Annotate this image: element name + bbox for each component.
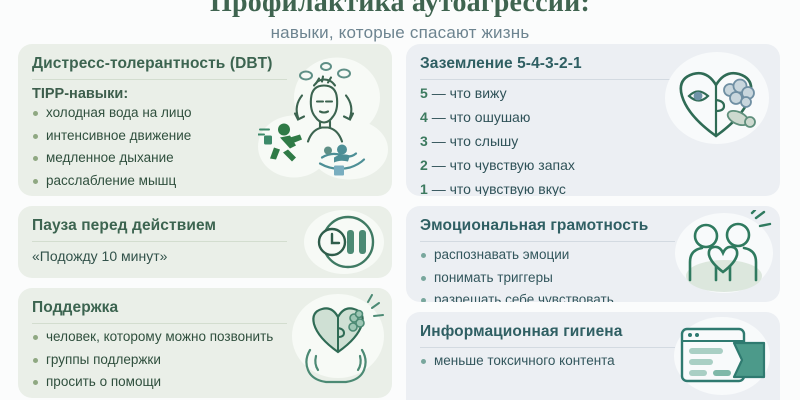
right-column: Заземление 5-4-3-2-1 5 — что вижу 4 — чт… bbox=[406, 44, 780, 400]
card-heading: Дистресс-толерантность (DBT) bbox=[32, 55, 378, 80]
step-text: — что чувствую вкус bbox=[432, 181, 566, 196]
card-emotional-literacy[interactable]: Эмоциональная грамотность распознавать э… bbox=[406, 206, 780, 302]
step-number: 1 bbox=[420, 181, 428, 196]
card-pause-before-action[interactable]: Пауза перед действием «Подожду 10 минут» bbox=[18, 206, 392, 278]
list-item: меньше токсичного контента bbox=[420, 354, 766, 368]
card-subheading: TIPP-навыки: bbox=[32, 86, 378, 102]
list-item: понимать триггеры bbox=[420, 271, 766, 285]
list-item: 5 — что вижу bbox=[420, 86, 766, 100]
card-grounding-54321[interactable]: Заземление 5-4-3-2-1 5 — что вижу 4 — чт… bbox=[406, 44, 780, 196]
cards-layout: Дистресс-толерантность (DBT) TIPP-навыки… bbox=[0, 44, 800, 400]
card-quote: «Подожду 10 минут» bbox=[32, 248, 378, 264]
bullet-list: распознавать эмоции понимать триггеры ра… bbox=[420, 248, 766, 302]
page-subtitle: навыки, которые спасают жизнь bbox=[0, 23, 800, 43]
card-information-hygiene[interactable]: Информационная гигиена меньше токсичного… bbox=[406, 312, 780, 400]
bullet-list: холодная вода на лицо интенсивное движен… bbox=[32, 106, 378, 187]
bullet-list: меньше токсичного контента bbox=[420, 354, 766, 368]
list-item: интенсивное движение bbox=[32, 129, 378, 143]
list-item: 1 — что чувствую вкус bbox=[420, 182, 766, 196]
list-item: расслабление мышц bbox=[32, 174, 378, 188]
card-support[interactable]: Поддержка человек, которому можно позвон… bbox=[18, 288, 392, 398]
card-heading: Пауза перед действием bbox=[32, 217, 378, 242]
step-number: 4 bbox=[420, 109, 428, 125]
left-column: Дистресс-толерантность (DBT) TIPP-навыки… bbox=[18, 44, 392, 400]
list-item: 4 — что ошушаю bbox=[420, 110, 766, 124]
card-heading: Заземление 5-4-3-2-1 bbox=[420, 55, 766, 80]
card-distress-tolerance[interactable]: Дистресс-толерантность (DBT) TIPP-навыки… bbox=[18, 44, 392, 196]
step-number: 5 bbox=[420, 85, 428, 101]
list-item: человек, которому можно позвонить bbox=[32, 330, 378, 344]
list-item: медленное дыхание bbox=[32, 151, 378, 165]
list-item: просить о помощи bbox=[32, 375, 378, 389]
card-heading: Поддержка bbox=[32, 299, 378, 324]
bullet-list: человек, которому можно позвонить группы… bbox=[32, 330, 378, 389]
list-item: разрешать себе чувствовать bbox=[420, 293, 766, 302]
list-item: 2 — что чувствую запах bbox=[420, 158, 766, 172]
step-text: — что вижу bbox=[432, 85, 507, 101]
steps-list: 5 — что вижу 4 — что ошушаю 3 — что слыш… bbox=[420, 86, 766, 196]
page-title: Профилактика аутоагрессии: bbox=[0, 0, 800, 17]
list-item: распознавать эмоции bbox=[420, 248, 766, 262]
page-header: Профилактика аутоагрессии: навыки, котор… bbox=[0, 0, 800, 43]
card-heading: Информационная гигиена bbox=[420, 323, 766, 348]
step-text: — что ошушаю bbox=[432, 109, 531, 125]
card-heading: Эмоциональная грамотность bbox=[420, 217, 766, 242]
step-number: 2 bbox=[420, 157, 428, 173]
list-item: 3 — что слышу bbox=[420, 134, 766, 148]
step-text: — что слышу bbox=[432, 133, 519, 149]
list-item: холодная вода на лицо bbox=[32, 106, 378, 120]
list-item: группы подлержки bbox=[32, 353, 378, 367]
step-text: — что чувствую запах bbox=[432, 157, 575, 173]
step-number: 3 bbox=[420, 133, 428, 149]
